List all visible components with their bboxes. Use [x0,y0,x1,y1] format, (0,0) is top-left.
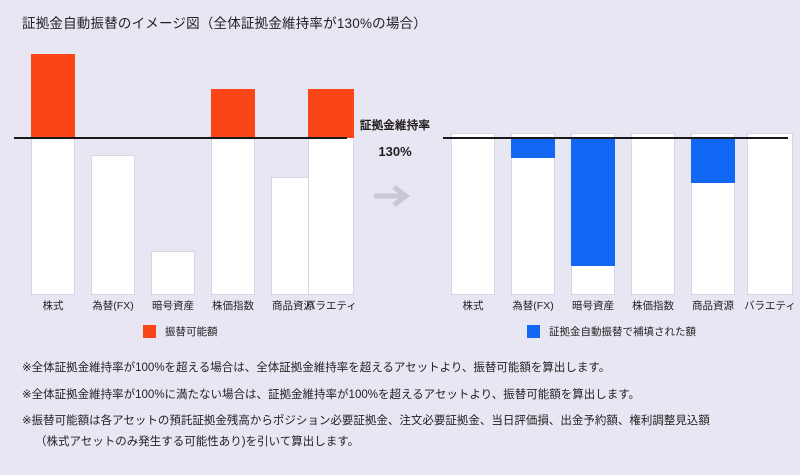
chart-panel-after: 株式 為替(FX) 暗号資産 株価指数 商品資源 バラエティ [437,0,787,330]
ratio-value: 130% [352,144,438,159]
footnote-3-continued: （株式アセットのみ発生する可能性あり)を引いて算出します。 [22,434,792,451]
bar-surplus-before-0 [31,54,75,138]
plot-area-after [437,0,787,300]
legend-swatch-orange [143,325,156,338]
bar-margin-before-0 [31,133,75,295]
bar-margin-after-5 [747,133,793,295]
ratio-label: 証拠金維持率 [352,117,438,133]
footnotes: ※全体証拠金維持率が100%を超える場合は、全体証拠金維持率を超えるアセットより… [22,360,792,461]
bar-group-before-3 [211,0,255,300]
x-label-before-1: 為替(FX) [82,298,144,313]
bar-group-before-0 [31,0,75,300]
x-label-after-3: 株価指数 [622,298,684,313]
x-label-before-3: 株価指数 [202,298,264,313]
x-label-after-4: 商品資源 [682,298,744,313]
footnote-2: ※全体証拠金維持率が100%に満たない場合は、証拠金維持率が100%を超えるアセ… [22,387,792,404]
x-axis-labels-after: 株式 為替(FX) 暗号資産 株価指数 商品資源 バラエティ [437,298,787,318]
bar-group-after-5 [747,0,793,300]
x-label-after-5: バラエティ [739,298,800,313]
legend-label-auto-transferred: 証拠金自動振替で補填された額 [549,324,696,339]
x-axis-labels-before: 株式 為替(FX) 暗号資産 株価指数 商品資源 バラエティ [8,298,358,318]
bar-group-after-1 [511,0,555,300]
bar-transfer-after-2 [571,138,615,266]
diagram-canvas: 証拠金自動振替のイメージ図（全体証拠金維持率が130%の場合） [0,0,800,475]
x-label-after-1: 為替(FX) [502,298,564,313]
x-label-after-2: 暗号資産 [562,298,624,313]
footnote-3: ※振替可能額は各アセットの預託証拠金残高からポジション必要証拠金、注文必要証拠金… [22,413,792,430]
maintenance-ratio-line-before [14,137,347,139]
footnote-1: ※全体証拠金維持率が100%を超える場合は、全体証拠金維持率を超えるアセットより… [22,360,792,377]
x-label-after-0: 株式 [442,298,504,313]
center-annotation: 証拠金維持率 130% [352,117,438,159]
maintenance-ratio-line-after [443,137,788,139]
legend-swatch-blue [527,325,540,338]
bar-transfer-after-4 [691,138,735,183]
bar-group-before-1 [91,0,135,300]
bar-margin-before-2 [151,251,195,295]
legend-after: 証拠金自動振替で補填された額 [527,324,696,339]
legend-label-transferable: 振替可能額 [165,324,218,339]
bar-group-after-4 [691,0,735,300]
arrow-right-icon [372,182,416,210]
legend-before: 振替可能額 [143,324,218,339]
plot-area-before [8,0,358,300]
bar-group-after-2 [571,0,615,300]
x-label-before-5: バラエティ [300,298,362,313]
x-label-before-2: 暗号資産 [142,298,204,313]
bar-group-after-3 [631,0,675,300]
bar-transfer-after-1 [511,138,555,158]
bar-group-before-5 [308,0,354,300]
bar-margin-before-5 [308,133,354,295]
bar-margin-after-0 [451,133,495,295]
chart-panel-before: 株式 為替(FX) 暗号資産 株価指数 商品資源 バラエティ [8,0,358,330]
x-label-before-0: 株式 [22,298,84,313]
bar-surplus-before-5 [308,89,354,138]
bar-margin-after-3 [631,133,675,295]
bar-group-after-0 [451,0,495,300]
bar-margin-before-1 [91,155,135,295]
bar-group-before-2 [151,0,195,300]
bar-surplus-before-3 [211,89,255,138]
bar-margin-before-3 [211,133,255,295]
